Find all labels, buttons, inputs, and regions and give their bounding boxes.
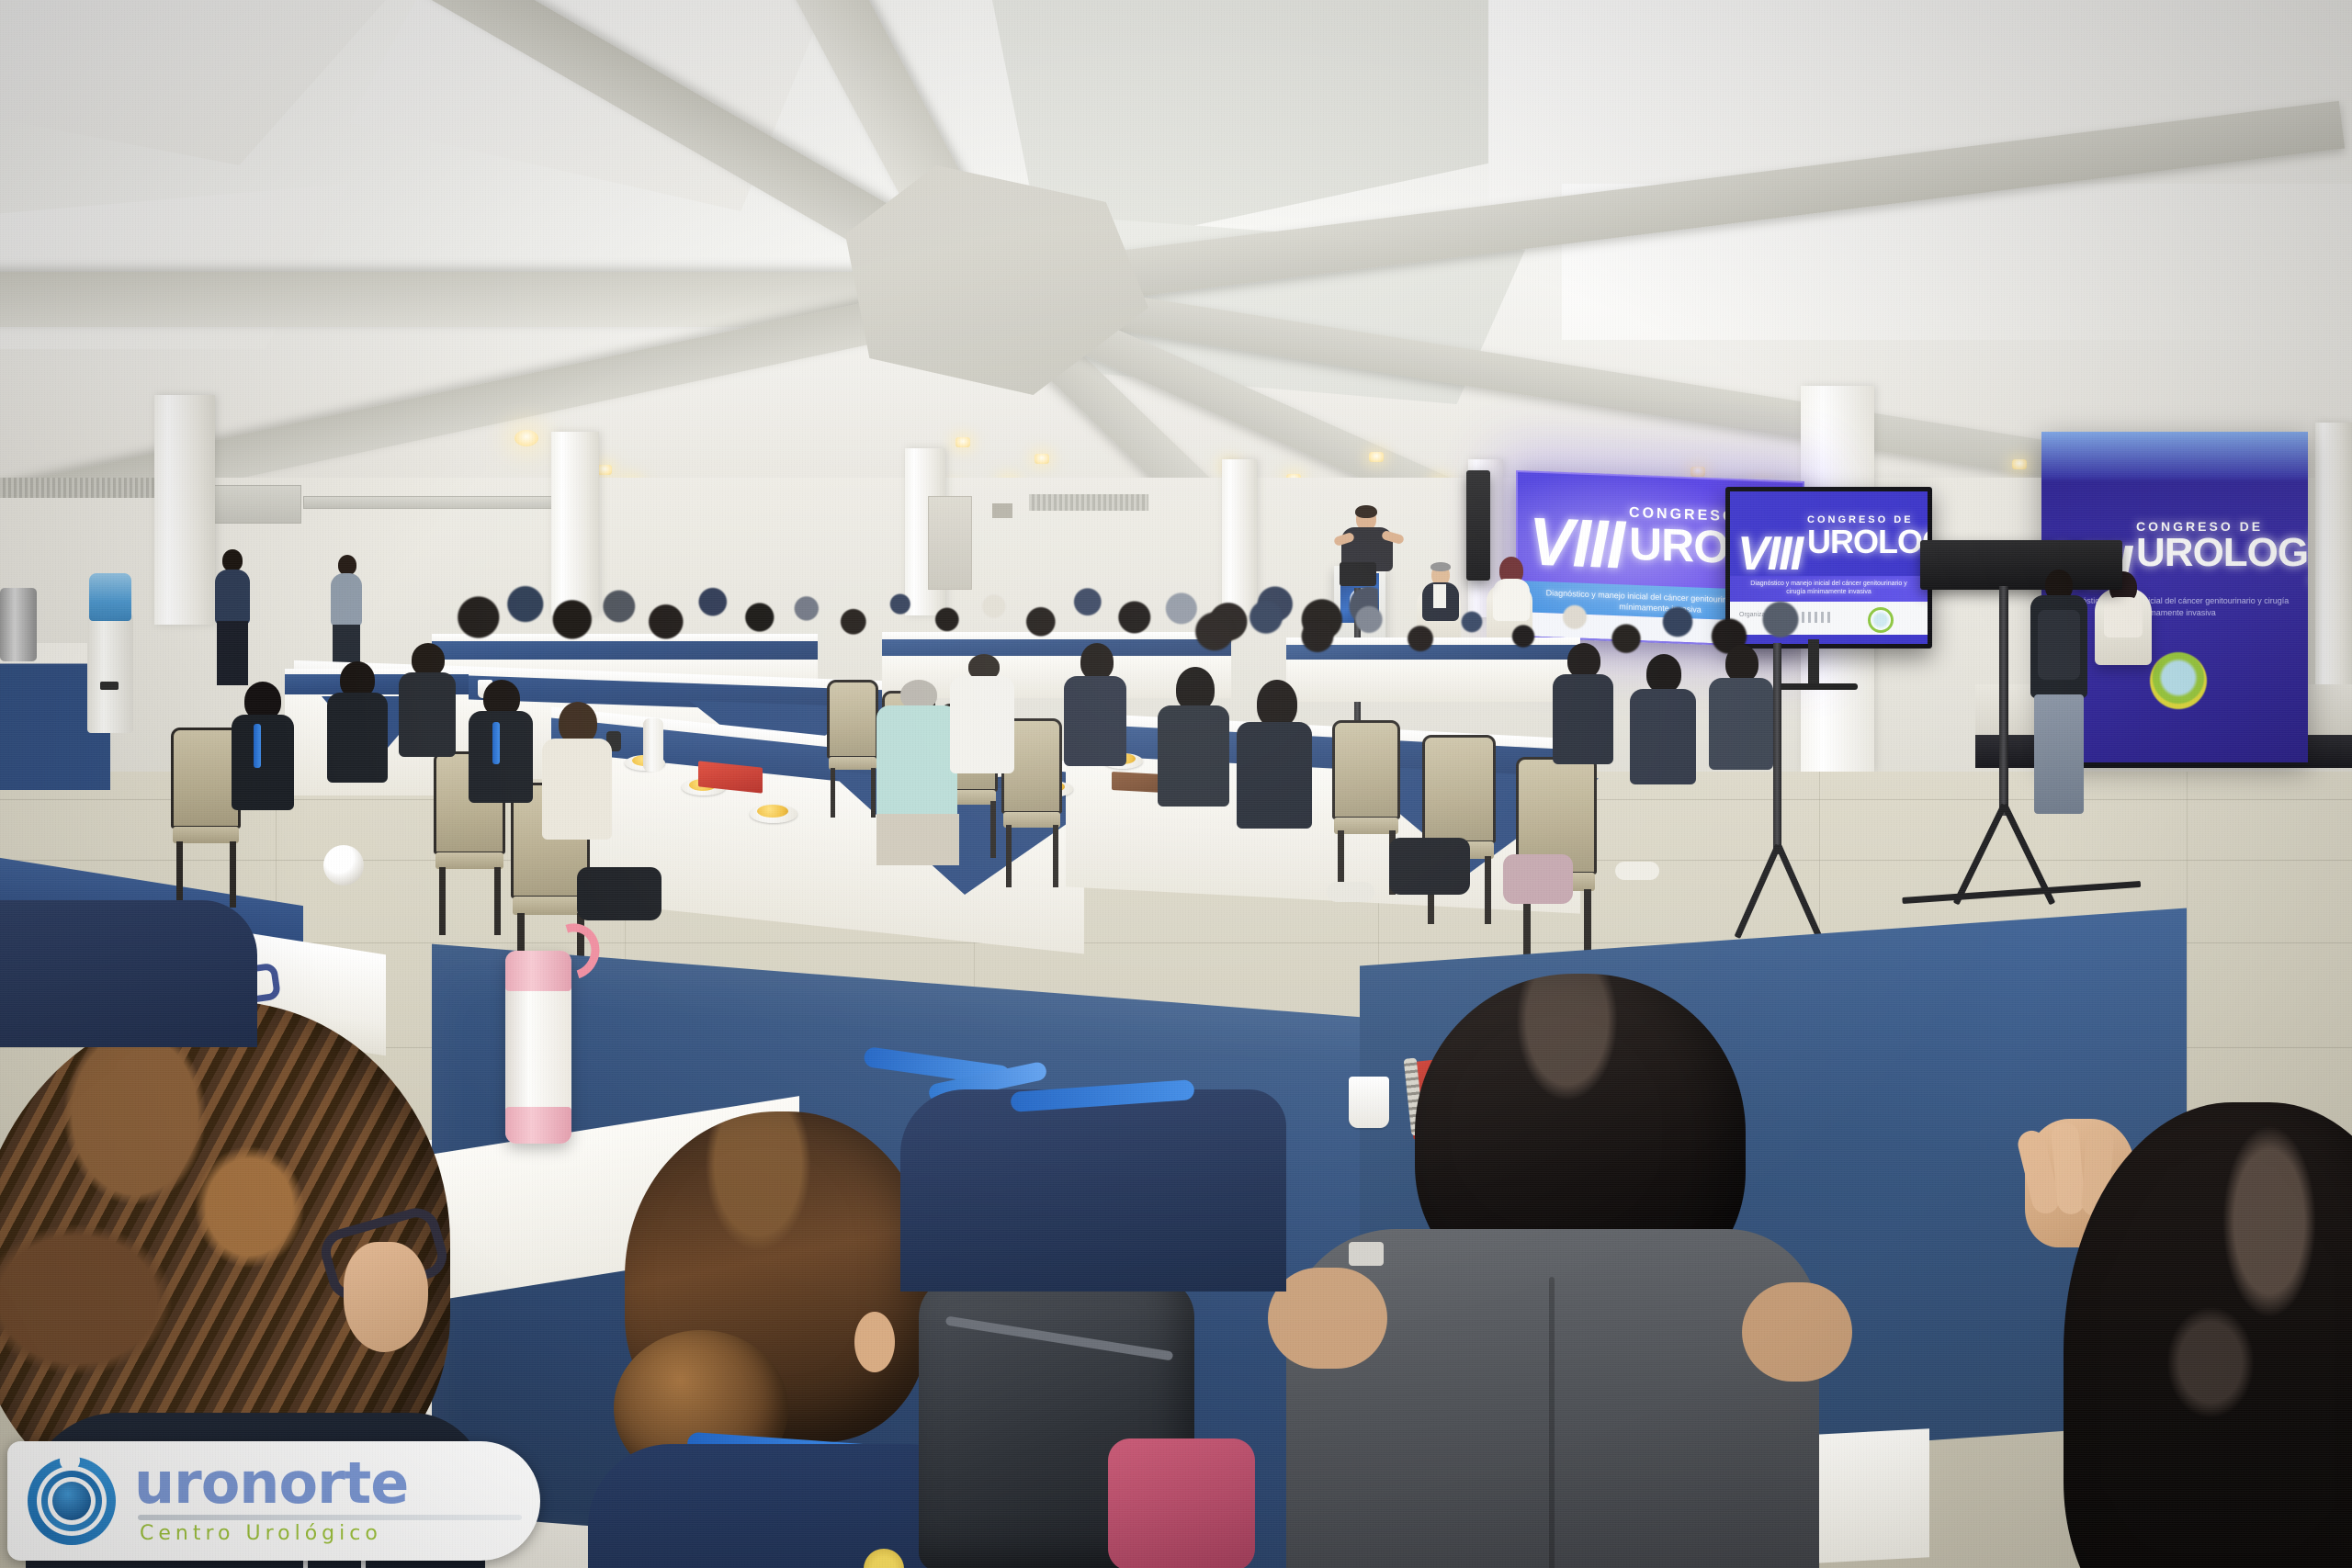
backdrop-light-glow	[2041, 432, 2308, 479]
floor-bag	[577, 867, 661, 920]
seated-attendee	[1549, 643, 1617, 788]
conference-photo: VIII CONGRESO DE UROLOGÍA 2025 Diagnósti…	[0, 0, 2352, 1568]
pink-pouch	[1108, 1438, 1255, 1568]
navy-scrub-shoulder	[900, 1089, 1286, 1292]
seated-attendee	[465, 680, 537, 836]
foreground-attendee-long-black-hair	[1957, 992, 2352, 1568]
scrub-seam	[1549, 1277, 1555, 1568]
floor-bag	[1503, 854, 1573, 904]
soccer-ball	[323, 845, 364, 886]
pink-thermos	[505, 951, 571, 1144]
seated-attendee	[395, 643, 459, 781]
floor-shoe	[1327, 882, 1374, 902]
seated-attendee	[1154, 667, 1233, 838]
column	[2315, 423, 2352, 716]
tv-line-big: UROLOGÍA	[1807, 525, 1928, 558]
banquet-chair	[1422, 735, 1496, 924]
water-tap	[100, 682, 119, 690]
seated-attendee	[538, 702, 616, 876]
arm-right	[1742, 1282, 1852, 1382]
navy-scrub-top	[588, 1444, 974, 1568]
ac-duct	[303, 496, 562, 509]
foreground-attendee-grey-scrubs	[1277, 974, 1828, 1568]
seated-attendee	[1705, 645, 1777, 795]
seated-attendee	[1060, 643, 1130, 790]
water-bottle	[643, 718, 663, 772]
uronorte-watermark: uronorte Centro Urológico	[7, 1441, 540, 1561]
hvac-grille	[0, 478, 175, 498]
tv-sponsor-ring-icon	[1868, 607, 1894, 633]
seated-attendee-white-shirt	[946, 654, 1018, 808]
banquet-chair	[827, 680, 878, 818]
standing-staff-member	[209, 549, 254, 687]
floor-bag	[1389, 838, 1470, 895]
brand-tagline: Centro Urológico	[140, 1522, 522, 1545]
congress-emblem-icon	[2150, 652, 2207, 709]
water-cooler	[87, 614, 133, 733]
seated-attendee	[228, 682, 298, 840]
shoulder-patch-icon	[1349, 1242, 1384, 1266]
speaker-stand-pole	[1999, 586, 2008, 816]
seated-attendee	[323, 661, 391, 808]
floor-shoe	[1615, 862, 1659, 880]
foreground-attendee-navy-edge	[900, 1089, 1286, 1292]
seated-attendee	[1233, 680, 1316, 862]
seated-attendee	[1626, 654, 1700, 812]
coffee-urn	[0, 588, 37, 661]
crew-member-with-backpack	[2021, 570, 2095, 836]
navy-scrub-shoulder	[0, 900, 257, 1047]
ear	[854, 1312, 895, 1372]
backpack	[2038, 610, 2080, 680]
thermos-base	[505, 1107, 571, 1144]
wall-sign	[992, 503, 1012, 518]
backdrop-line-big: UROLOGÍA	[2136, 533, 2308, 573]
column	[154, 395, 215, 625]
tv-stand-foot	[1773, 683, 1858, 690]
uronorte-logo-icon	[26, 1455, 118, 1547]
brand-divider	[138, 1515, 522, 1520]
hvac-grille-right	[1029, 494, 1148, 511]
water-jug	[89, 573, 131, 621]
pastry	[757, 805, 788, 818]
foreground-attendee-edge-left	[0, 900, 257, 1047]
brand-name: uronorte	[134, 1457, 522, 1511]
